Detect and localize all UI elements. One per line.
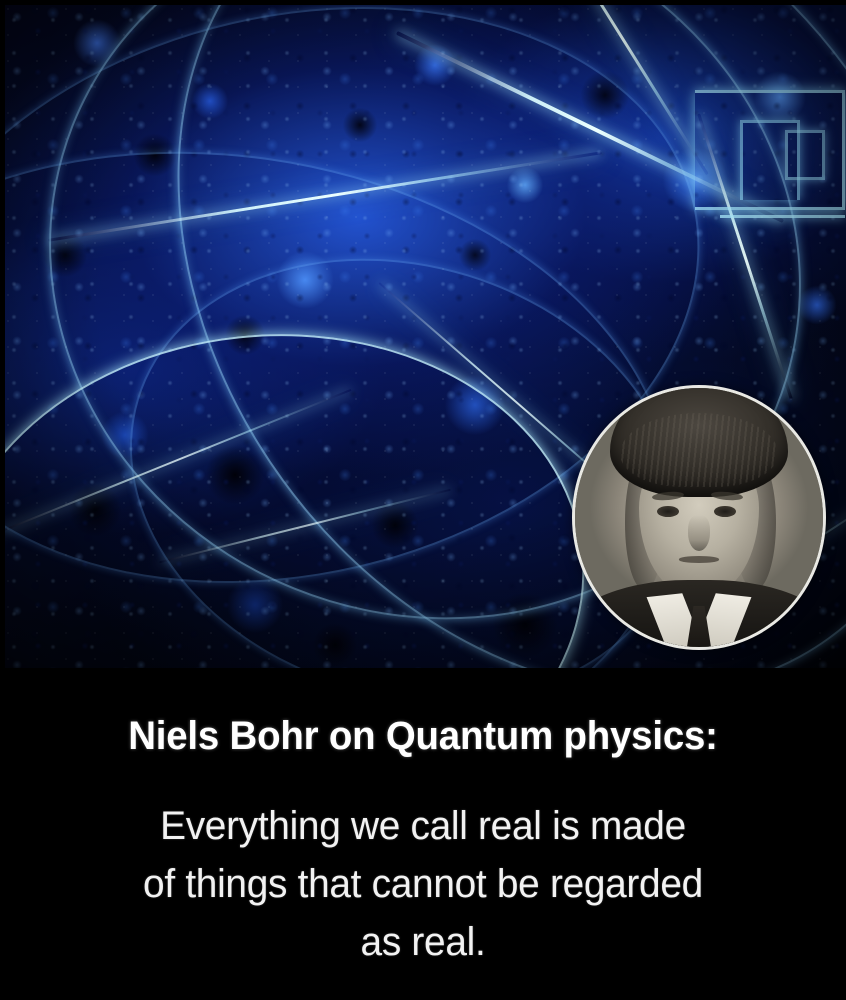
quote-line-3: as real.	[13, 913, 834, 971]
caption-quote: Everything we call real is made of thing…	[13, 797, 834, 971]
portrait-mouth	[679, 556, 719, 562]
caption-title: Niels Bohr on Quantum physics:	[17, 714, 829, 759]
meme-container: Niels Bohr on Quantum physics: Everythin…	[0, 0, 846, 1000]
quote-line-1: Everything we call real is made	[13, 797, 834, 855]
portrait-hair	[610, 385, 789, 497]
caption-panel: Niels Bohr on Quantum physics: Everythin…	[0, 668, 846, 1000]
quote-line-2: of things that cannot be regarded	[13, 855, 834, 913]
portrait-nose	[688, 515, 710, 551]
niels-bohr-portrait	[572, 385, 826, 650]
